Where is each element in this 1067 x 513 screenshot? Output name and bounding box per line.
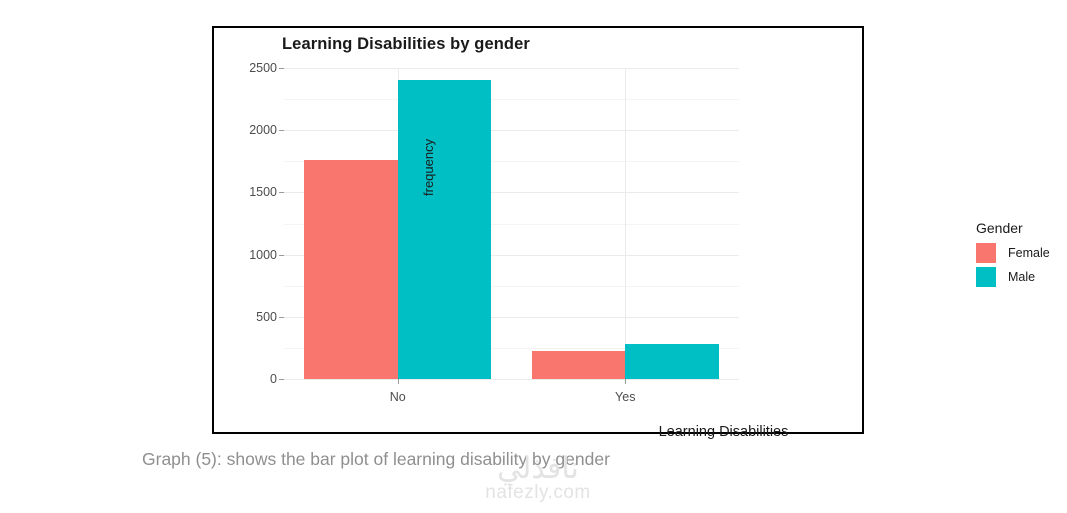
legend-item-female[interactable]: Female [976,243,1050,263]
figure-caption: Graph (5): shows the bar plot of learnin… [142,449,610,470]
y-axis-title: frequency [421,139,436,196]
watermark-domain: nafezly.com [468,482,608,504]
y-tick-label: 500 [256,310,277,324]
bar-yes-female [532,351,625,379]
bar-yes-male [625,344,718,379]
x-tick-label: No [390,390,406,404]
legend-items: FemaleMale [976,243,1050,287]
y-tick-mark [279,317,284,318]
x-axis-title: Learning Disabilities [496,424,951,440]
gridline-major [284,130,739,131]
gridline-minor [284,99,739,100]
chart-title: Learning Disabilities by gender [282,35,530,54]
gridline-vertical [625,68,626,379]
y-tick-mark [279,130,284,131]
x-tick-mark [625,379,626,384]
y-tick-mark [279,379,284,380]
legend: Gender FemaleMale [976,220,1050,291]
y-tick-label: 2500 [249,61,277,75]
bar-no-male [398,80,491,379]
legend-label: Female [1008,246,1050,260]
x-tick-mark [398,379,399,384]
y-tick-label: 1000 [249,248,277,262]
y-tick-label: 0 [270,372,277,386]
x-tick-label: Yes [615,390,635,404]
legend-swatch-female [976,243,996,263]
legend-label: Male [1008,270,1035,284]
gridline-major [284,379,739,380]
y-tick-label: 2000 [249,123,277,137]
y-tick-label: 1500 [249,185,277,199]
y-tick-mark [279,68,284,69]
figure-frame: Learning Disabilities by gender 05001000… [212,26,864,434]
legend-swatch-male [976,267,996,287]
gridline-major [284,68,739,69]
y-tick-mark [279,255,284,256]
legend-item-male[interactable]: Male [976,267,1050,287]
legend-title: Gender [976,220,1050,236]
bar-no-female [304,160,397,379]
y-tick-mark [279,192,284,193]
plot-panel: 05001000150020002500NoYes [284,68,739,379]
